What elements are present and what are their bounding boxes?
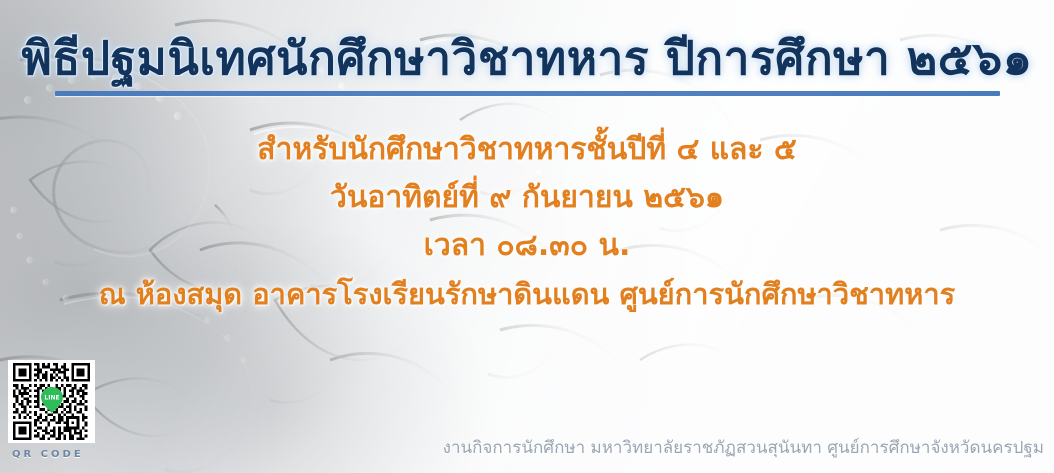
title-divider-line (55, 91, 1000, 96)
poster-details: สำหรับนักศึกษาวิชาทหารชั้นปีที่ ๔ และ ๕ … (0, 126, 1054, 318)
poster-title: พิธีปฐมนิเทศนักศึกษาวิชาทหาร ปีการศึกษา … (0, 22, 1054, 95)
poster-content: พิธีปฐมนิเทศนักศึกษาวิชาทหาร ปีการศึกษา … (0, 0, 1054, 473)
detail-line-time: เวลา ๐๘.๓๐ น. (0, 222, 1054, 270)
poster-footer-credit: งานกิจการนักศึกษา มหาวิทยาลัยราชภัฏสวนสุ… (443, 434, 1044, 461)
qr-code-label: QR CODE (8, 449, 103, 460)
qr-code-card[interactable]: LINE (8, 360, 95, 443)
qr-code-block[interactable]: LINE QR CODE (8, 360, 103, 460)
line-logo-text: LINE (44, 394, 59, 401)
poster-canvas: พิธีปฐมนิเทศนักศึกษาวิชาทหาร ปีการศึกษา … (0, 0, 1054, 473)
line-app-pin-icon: LINE (41, 387, 63, 413)
detail-line-audience: สำหรับนักศึกษาวิชาทหารชั้นปีที่ ๔ และ ๕ (0, 126, 1054, 174)
detail-line-venue: ณ ห้องสมุด อาคารโรงเรียนรักษาดินแดน ศูนย… (0, 270, 1054, 318)
detail-line-date: วันอาทิตย์ที่ ๙ กันยายน ๒๕๖๑ (0, 174, 1054, 222)
